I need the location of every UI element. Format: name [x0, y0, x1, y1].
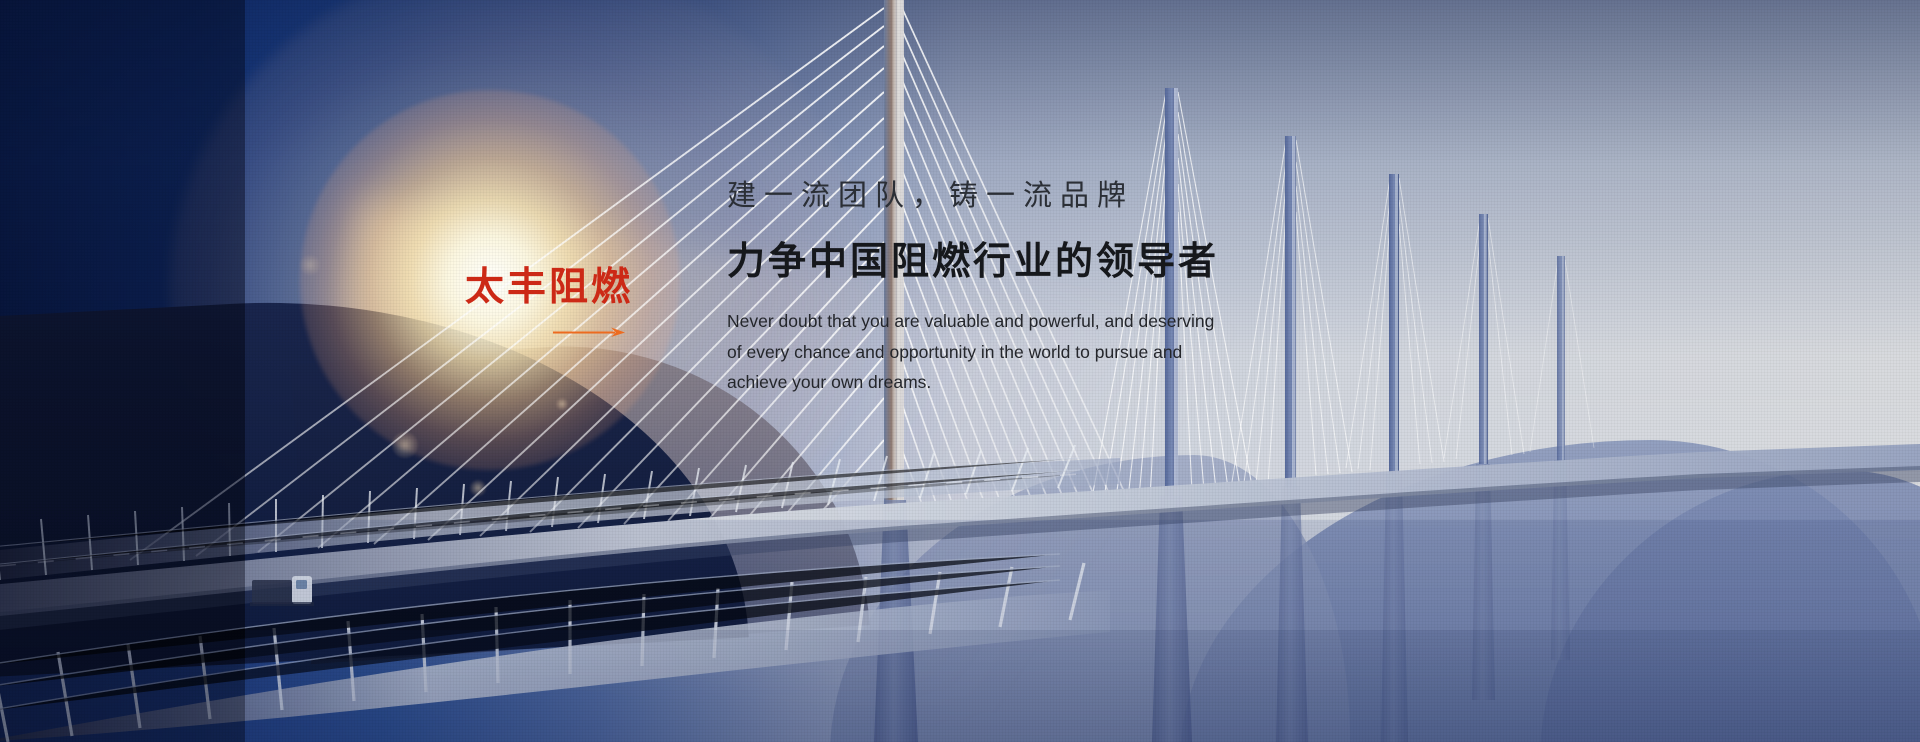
banner-tagline: 建一流团队，铸一流品牌 — [727, 178, 1467, 213]
banner-description: Never doubt that you are valuable and po… — [727, 306, 1467, 397]
hero-banner: 太丰阻燃 建一流团队，铸一流品牌 力争中国阻燃行业的领导者 Never doub… — [0, 0, 1920, 742]
description-line-3: achieve your own dreams. — [727, 367, 1467, 397]
brand-logo-text: 太丰阻燃 — [465, 268, 685, 307]
brand-logo[interactable]: 太丰阻燃 — [465, 268, 685, 307]
banner-text-block: 建一流团队，铸一流品牌 力争中国阻燃行业的领导者 Never doubt tha… — [727, 178, 1467, 397]
banner-headline: 力争中国阻燃行业的领导者 — [727, 239, 1467, 285]
banner-content: 太丰阻燃 建一流团队，铸一流品牌 力争中国阻燃行业的领导者 Never doub… — [0, 0, 1920, 742]
right-arrow-icon — [553, 326, 625, 338]
description-line-1: Never doubt that you are valuable and po… — [727, 306, 1467, 336]
description-line-2: of every chance and opportunity in the w… — [727, 337, 1467, 367]
